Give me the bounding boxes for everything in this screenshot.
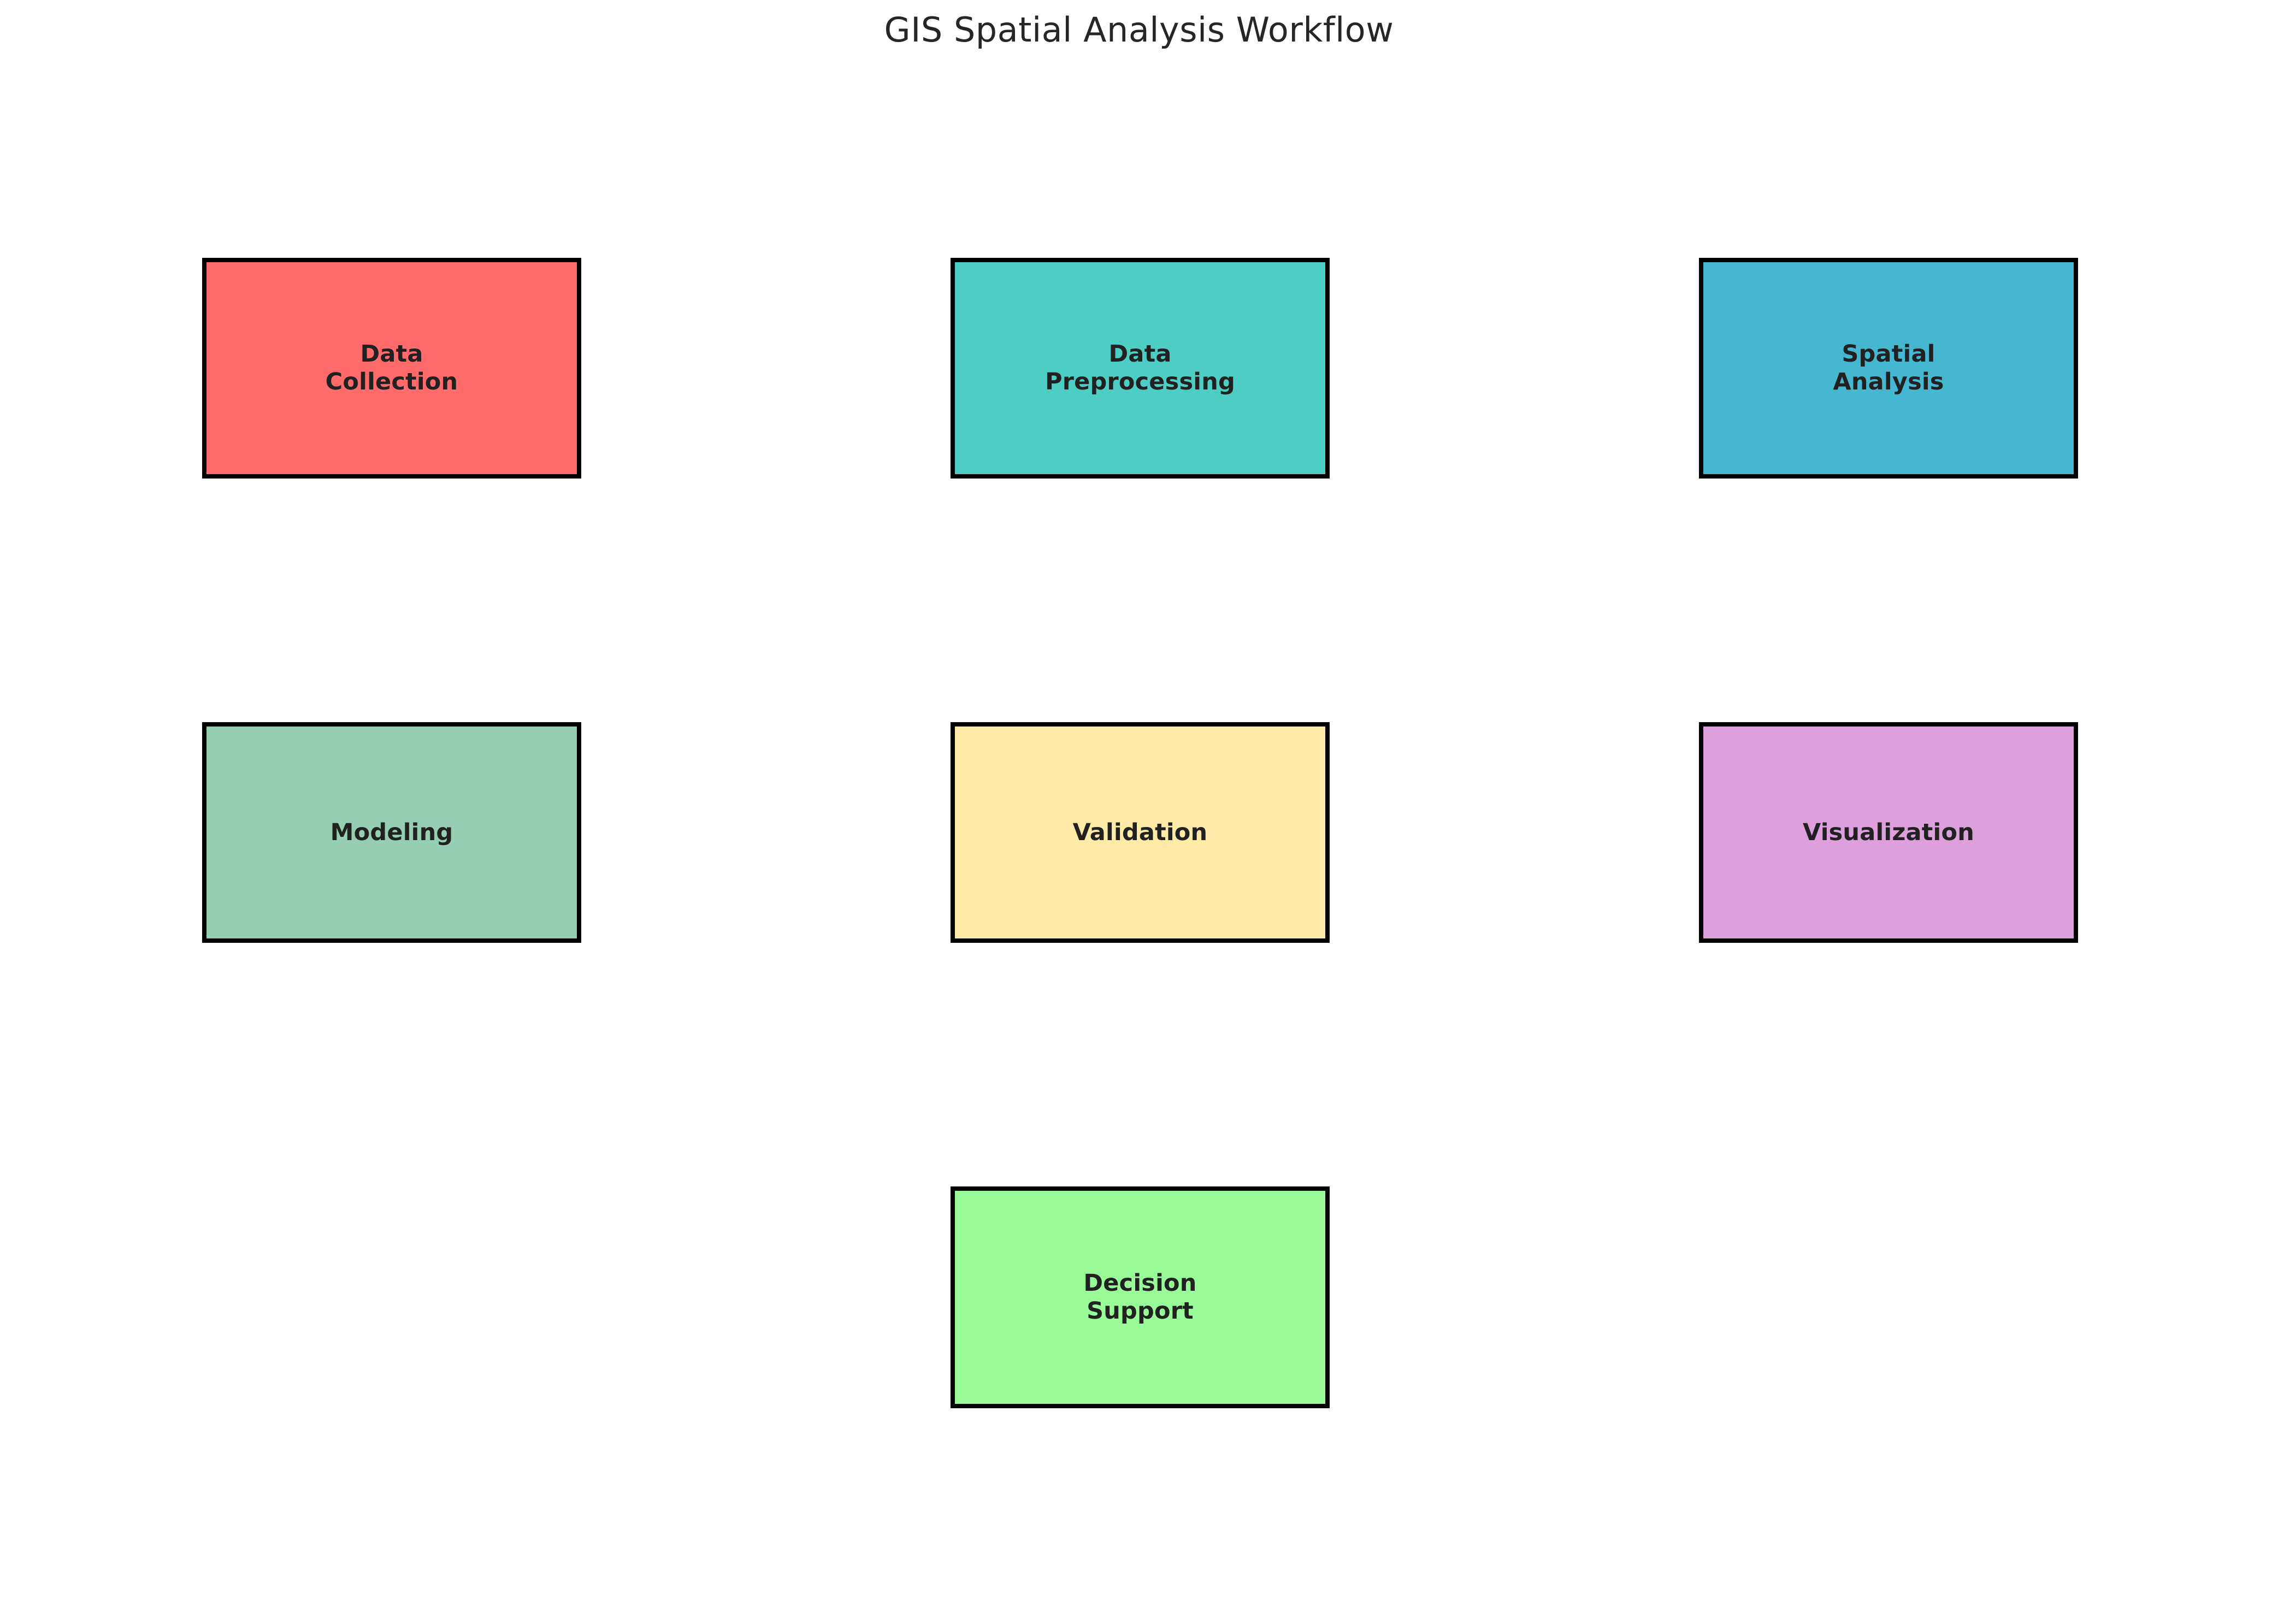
node-decision-support[interactable]: Decision Support: [951, 1186, 1330, 1408]
node-data-collection[interactable]: Data Collection: [202, 258, 581, 479]
node-label: Data Collection: [326, 340, 458, 395]
node-modeling[interactable]: Modeling: [202, 722, 581, 943]
node-label: Modeling: [331, 819, 453, 847]
node-data-preprocessing[interactable]: Data Preprocessing: [951, 258, 1330, 479]
node-label: Spatial Analysis: [1833, 340, 1944, 395]
node-label: Data Preprocessing: [1045, 340, 1235, 395]
workflow-diagram-canvas: GIS Spatial Analysis Workflow Data Colle…: [0, 0, 2278, 1624]
node-visualization[interactable]: Visualization: [1699, 722, 2078, 943]
node-label: Validation: [1073, 819, 1208, 847]
node-spatial-analysis[interactable]: Spatial Analysis: [1699, 258, 2078, 479]
node-label: Decision Support: [1083, 1269, 1196, 1325]
node-validation[interactable]: Validation: [951, 722, 1330, 943]
node-label: Visualization: [1803, 819, 1974, 847]
page-title: GIS Spatial Analysis Workflow: [0, 10, 2278, 50]
